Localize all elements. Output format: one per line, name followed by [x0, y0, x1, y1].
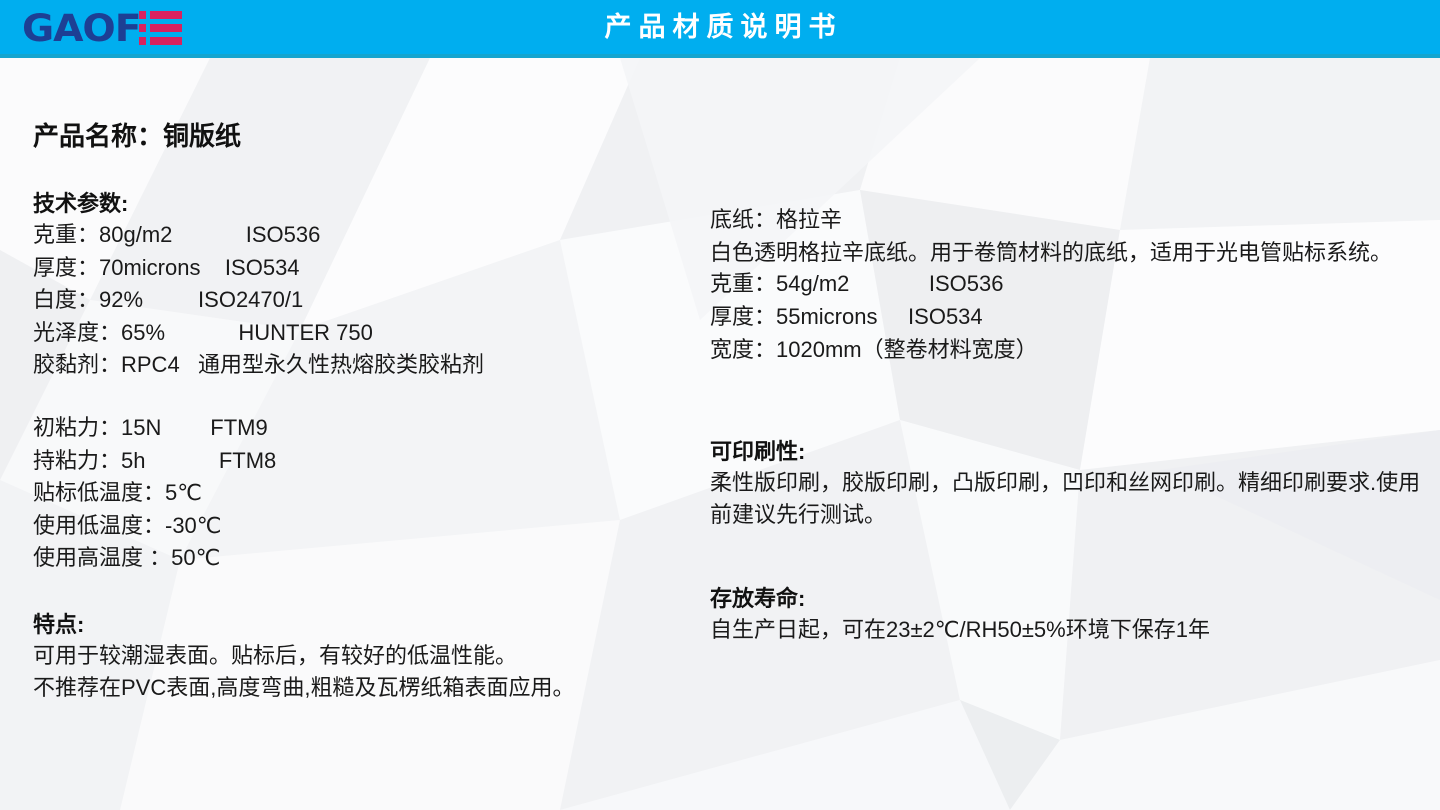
liner-param-row: 克重：54g/m2 ISO536 [710, 268, 1425, 301]
features-heading: 特点: [33, 609, 683, 640]
tech-param-row: 克重：80g/m2 ISO536 [33, 219, 683, 252]
spacer [33, 382, 683, 412]
header-underline [0, 54, 1440, 58]
liner-heading: 底纸：格拉辛 [710, 204, 1425, 237]
tech-params-heading: 技术参数: [33, 188, 683, 219]
logo-bar-row [139, 37, 182, 45]
printability-text: 柔性版印刷，胶版印刷，凸版印刷，凹印和丝网印刷。精细印刷要求.使用前建议先行测试… [710, 467, 1425, 531]
logo-bar [150, 24, 182, 32]
shelf-life-heading: 存放寿命: [710, 583, 1425, 614]
brand-logo[interactable]: GAOF [22, 8, 182, 48]
feature-row: 可用于较潮湿表面。贴标后，有较好的低温性能。 [33, 640, 683, 673]
feature-row: 不推荐在PVC表面,高度弯曲,粗糙及瓦楞纸箱表面应用。 [33, 672, 683, 705]
spacer [710, 366, 1425, 436]
left-column: 技术参数: 克重：80g/m2 ISO536 厚度：70microns ISO5… [33, 188, 683, 705]
slide-content: 产品名称：铜版纸 技术参数: 克重：80g/m2 ISO536 厚度：70mic… [0, 0, 1440, 810]
tech-param-row: 胶黏剂：RPC4 通用型永久性热熔胶类胶粘剂 [33, 349, 683, 382]
logo-bar-row [139, 24, 182, 32]
logo-bars-icon [139, 11, 182, 45]
tech-param-row: 厚度：70microns ISO534 [33, 252, 683, 285]
logo-bar [150, 11, 182, 19]
logo-wordmark: GAOF [22, 10, 140, 47]
liner-param-row: 宽度：1020mm（整卷材料宽度） [710, 334, 1425, 367]
printability-heading: 可印刷性: [710, 436, 1425, 467]
adhesion-param-row: 使用低温度：-30℃ [33, 510, 683, 543]
right-column: 底纸：格拉辛 白色透明格拉辛底纸。用于卷筒材料的底纸，适用于光电管贴标系统。 克… [710, 204, 1425, 646]
adhesion-param-row: 贴标低温度：5℃ [33, 477, 683, 510]
adhesion-param-row: 持粘力：5h FTM8 [33, 445, 683, 478]
spacer [710, 531, 1425, 583]
slide-page: 产品材质说明书 GAOF 产品名称：铜版纸 技术参数: 克重：80g/m2 [0, 0, 1440, 810]
spacer [33, 575, 683, 609]
liner-description: 白色透明格拉辛底纸。用于卷筒材料的底纸，适用于光电管贴标系统。 [710, 237, 1425, 269]
logo-bar [150, 37, 182, 45]
shelf-life-text: 自生产日起，可在23±2℃/RH50±5%环境下保存1年 [710, 614, 1425, 646]
tech-param-row: 白度：92% ISO2470/1 [33, 284, 683, 317]
product-name: 产品名称：铜版纸 [33, 116, 241, 153]
page-title: 产品材质说明书 [0, 0, 1440, 54]
adhesion-param-row: 使用高温度 ：50℃ [33, 542, 683, 575]
tech-param-row: 光泽度：65% HUNTER 750 [33, 317, 683, 350]
liner-param-row: 厚度：55microns ISO534 [710, 301, 1425, 334]
adhesion-param-row: 初粘力：15N FTM9 [33, 412, 683, 445]
logo-bar-row [139, 11, 182, 19]
